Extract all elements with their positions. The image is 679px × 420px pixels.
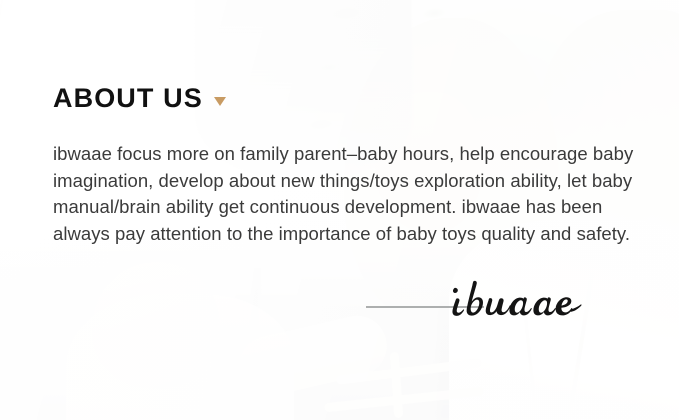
section-heading-row: ABOUT US (53, 85, 226, 112)
caret-down-icon (214, 97, 226, 106)
brand-wordmark-svg (444, 276, 614, 338)
brand-wordmark (444, 276, 614, 343)
about-body-text: ibwaae focus more on family parent–baby … (53, 141, 653, 247)
page-title: ABOUT US (53, 85, 203, 112)
about-us-banner: ABOUT US ibwaae focus more on family par… (0, 0, 679, 420)
brand-logo-group (366, 278, 618, 340)
banner-content: ABOUT US ibwaae focus more on family par… (0, 0, 679, 420)
